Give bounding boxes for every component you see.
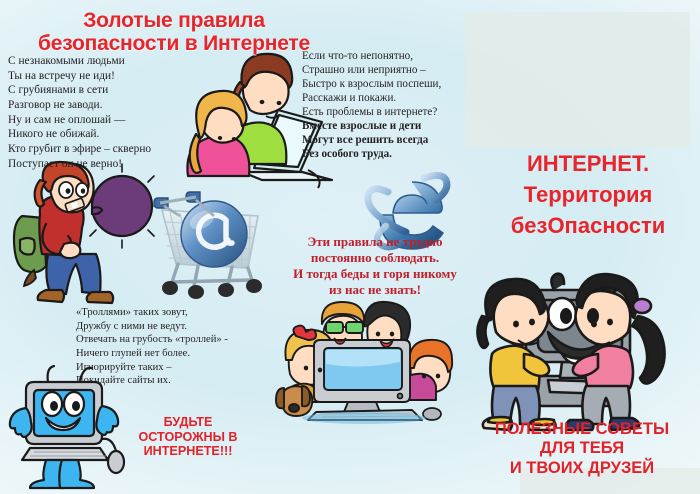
right-headline-line: Территория bbox=[480, 179, 696, 210]
poem-left-line: Ну и сам не оплошай — bbox=[8, 113, 188, 128]
poem-trolls-line: Покидайте сайты их. bbox=[76, 374, 262, 388]
poem-left-line: Ты на встречу не иди! bbox=[8, 69, 188, 84]
bottom-right-tagline: ПОЛЕЗНЫЕ СОВЕТЫ ДЛЯ ТЕБЯ И ТВОИХ ДРУЗЕЙ bbox=[466, 420, 698, 478]
poem-right-bold-line: Могут все решить всегда bbox=[302, 133, 492, 147]
bottom-left-warning-line: ИНТЕРНЕТЕ!!! bbox=[118, 444, 258, 459]
poem-right-block: Если что-то непонятно, Страшно или непри… bbox=[302, 49, 492, 161]
poem-trolls-line: Игнорируйте таких – bbox=[76, 361, 262, 375]
poem-right-line: Страшно или неприятно – bbox=[302, 63, 492, 77]
center-red-line: Эти правила не трудно bbox=[262, 234, 488, 250]
poem-left-line: Разговор не заводи. bbox=[8, 98, 188, 113]
poem-right-bold-line: Вместе взрослые и дети bbox=[302, 119, 492, 133]
poem-left-line: Поступает он не верно! bbox=[8, 157, 188, 172]
bottom-left-warning: БУДЬТЕ ОСТОРОЖНЫ В ИНТЕРНЕТЕ!!! bbox=[118, 415, 258, 459]
right-headline-line: безОпасности bbox=[480, 210, 696, 241]
poem-trolls-line: Отвечать на грубость «троллей» - bbox=[76, 333, 262, 347]
poem-trolls-block: «Троллями» таких зовут, Дружбу с ними не… bbox=[76, 306, 262, 388]
center-red-line: постоянно соблюдать. bbox=[262, 250, 488, 266]
center-red-message: Эти правила не трудно постоянно соблюдат… bbox=[262, 234, 488, 297]
poem-trolls-line: Дружбу с ними не ведут. bbox=[76, 320, 262, 334]
bottom-left-warning-line: ОСТОРОЖНЫ В bbox=[118, 430, 258, 445]
boy-with-balloon-illustration bbox=[6, 162, 158, 310]
bottom-right-tagline-line: И ТВОИХ ДРУЗЕЙ bbox=[466, 459, 698, 478]
poem-trolls-line: Ничего глупей нет более. bbox=[76, 347, 262, 361]
poem-right-line: Расскажи и покажи. bbox=[302, 91, 492, 105]
poem-left-line: С грубиянами в сети bbox=[8, 83, 188, 98]
right-headline: ИНТЕРНЕТ. Территория безОпасности bbox=[480, 148, 696, 242]
center-red-line: И тогда беды и горя никому bbox=[262, 266, 488, 282]
bottom-right-tagline-line: ДЛЯ ТЕБЯ bbox=[466, 439, 698, 458]
poem-left-line: Никого не обижай. bbox=[8, 127, 188, 142]
boy-girl-with-computer-illustration bbox=[462, 258, 700, 426]
poem-trolls-line: «Троллями» таких зовут, bbox=[76, 306, 262, 320]
kids-and-dog-at-computer-illustration bbox=[272, 300, 452, 420]
shopping-cart-at-symbol-illustration bbox=[152, 176, 280, 304]
poem-right-bold-line: Без особого труда. bbox=[302, 147, 492, 161]
internet-safety-poster: Золотые правила безопасности в Интернете… bbox=[0, 0, 700, 494]
poem-right-line: Есть проблемы в интернете? bbox=[302, 105, 492, 119]
page-title: Золотые правила безопасности в Интернете bbox=[24, 10, 324, 55]
right-headline-line: ИНТЕРНЕТ. bbox=[480, 148, 696, 179]
poem-left-line: С незнакомыми людьми bbox=[8, 54, 188, 69]
center-red-line: из нас не знать! bbox=[262, 282, 488, 298]
poem-right-line: Быстро к взрослым поспеши, bbox=[302, 77, 492, 91]
top-right-blank-panel bbox=[465, 12, 690, 148]
poem-right-line: Если что-то непонятно, bbox=[302, 49, 492, 63]
bottom-right-tagline-line: ПОЛЕЗНЫЕ СОВЕТЫ bbox=[466, 420, 698, 439]
poem-left-block: С незнакомыми людьми Ты на встречу не ид… bbox=[8, 54, 188, 171]
poem-left-line: Кто грубит в эфире – скверно bbox=[8, 142, 188, 157]
bottom-left-warning-line: БУДЬТЕ bbox=[118, 415, 258, 430]
